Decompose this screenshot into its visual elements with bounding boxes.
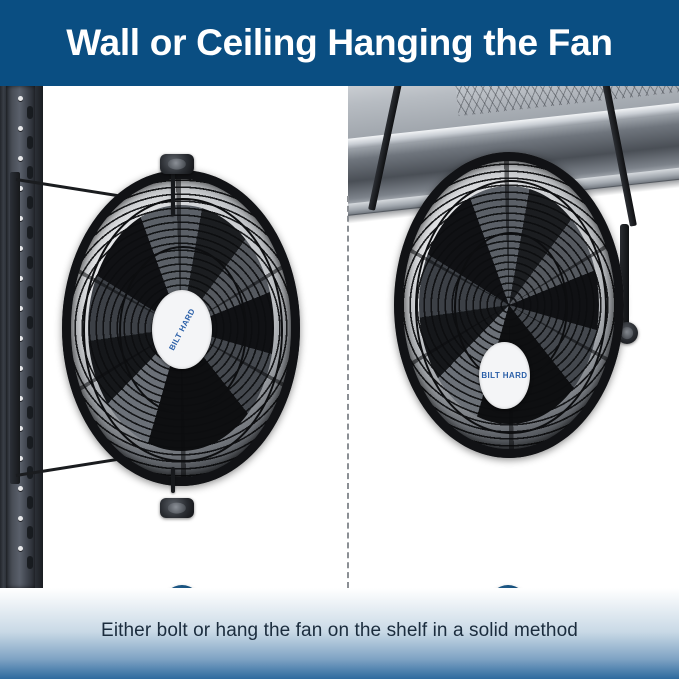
panel-divider — [347, 196, 349, 588]
warehouse-rack-upright — [0, 86, 58, 588]
wall-mount-plate — [10, 172, 20, 484]
tilt-knob-top[interactable] — [160, 154, 194, 174]
panel-wall-mount: BILT HARD 1 — [0, 86, 348, 588]
caption-band: Either bolt or hang the fan on the shelf… — [0, 588, 679, 679]
ceiling-hung-fan: BILT HARD — [394, 152, 624, 458]
tilt-knob-bottom[interactable] — [160, 498, 194, 518]
caption-text: Either bolt or hang the fan on the shelf… — [101, 620, 578, 642]
wall-mounted-fan: BILT HARD — [62, 170, 300, 486]
rack-flange — [35, 86, 43, 588]
fan-bottom-stem — [171, 467, 175, 493]
header-banner: Wall or Ceiling Hanging the Fan — [0, 0, 679, 86]
fan-hub-logo: BILT HARD — [479, 342, 530, 409]
page-title: Wall or Ceiling Hanging the Fan — [0, 0, 679, 86]
infographic-page: Wall or Ceiling Hanging the Fan — [0, 0, 679, 679]
brand-label: BILT HARD — [481, 371, 527, 380]
image-stage: BILT HARD 1 — [0, 86, 679, 588]
panel-ceiling-mount: BILT HARD 2 — [348, 86, 679, 588]
fan-hub-logo: BILT HARD — [152, 290, 212, 369]
brand-label: BILT HARD — [167, 307, 197, 352]
